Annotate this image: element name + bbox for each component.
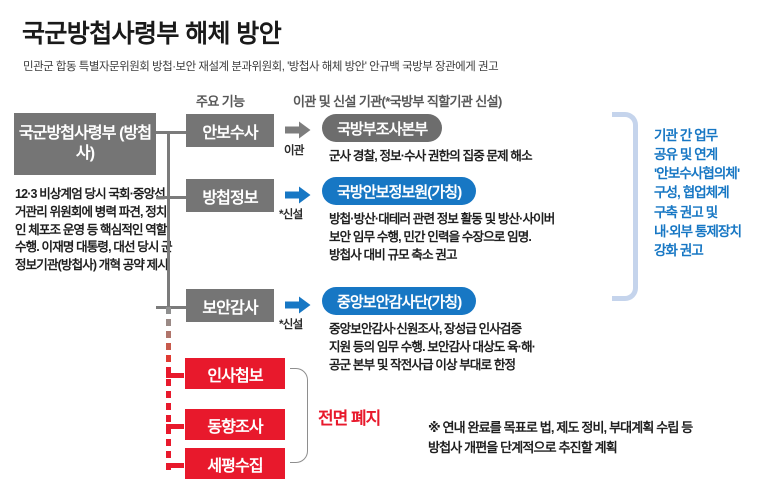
institution-pill-investigation-hq[interactable]: 국방부조사본부 <box>322 114 442 142</box>
institution-description-defense-security-intel: 방첩·방산·대테러 관련 정보 활동 및 방산·사이버 보안 임무 수행, 민간… <box>329 210 554 264</box>
arrow-right-icon-new-agency-1 <box>285 186 311 204</box>
abolished-box-trend-survey[interactable]: 동향조사 <box>185 409 285 440</box>
arrow-note-new-2: *신설 <box>279 316 303 332</box>
institution-description-central-security-audit: 중앙보안감사·신원조사, 장성급 인사검증 지원 등의 임무 수행. 보안감사 … <box>329 320 535 374</box>
coordination-bracket <box>612 112 638 301</box>
source-organization-description: 12·3 비상계엄 당시 국회·중앙선거관리 위원회에 병력 파견, 정치인 체… <box>15 186 175 275</box>
connector-stub-counterintelligence <box>156 196 186 199</box>
abolished-box-personnel-intel[interactable]: 인사첩보 <box>185 358 285 389</box>
function-box-security-audit[interactable]: 보안감사 <box>186 289 274 322</box>
dashed-stub-reputation-collection <box>166 463 184 468</box>
connector-stub-security-audit <box>156 306 186 309</box>
page-subtitle: 민관군 합동 특별자문위원회 방첩·보안 재설계 분과위원회, '방첩사 해체 … <box>23 58 498 74</box>
arrow-right-icon-transfer <box>285 121 311 139</box>
institution-description-investigation-hq: 군사 경찰, 정보·수사 권한의 집중 문제 해소 <box>329 147 532 165</box>
function-box-security-investigation[interactable]: 안보수사 <box>186 114 274 147</box>
abolished-label: 전면 폐지 <box>318 404 380 429</box>
abolished-box-reputation-collection[interactable]: 세평수집 <box>185 448 285 479</box>
page-title: 국군방첩사령부 해체 방안 <box>22 14 281 50</box>
abolished-bracket <box>290 368 308 463</box>
infographic-root: 국군방첩사령부 해체 방안 민관군 합동 특별자문위원회 방첩·보안 재설계 분… <box>0 0 780 483</box>
institution-pill-defense-security-intel[interactable]: 국방안보정보원(가칭) <box>322 177 476 205</box>
footnote: ※ 연내 완료를 목표로 법, 제도 정비, 부대계획 수립 등 방첩사 개편을… <box>428 418 778 457</box>
function-box-counterintelligence[interactable]: 방첩정보 <box>186 179 274 212</box>
dashed-stub-personnel-intel <box>166 373 184 378</box>
connector-stub-security-investigation <box>156 131 186 134</box>
arrow-note-transfer: 이관 <box>284 142 304 158</box>
dashed-stub-trend-survey <box>166 424 184 429</box>
source-organization-box: 국군방첩사령부 (방첩사) <box>14 113 156 175</box>
institution-pill-central-security-audit[interactable]: 중앙보안감사단(가칭) <box>322 287 476 315</box>
arrow-note-new-1: *신설 <box>279 206 303 222</box>
dashed-connector-abolished <box>166 307 171 473</box>
functions-column-header: 주요 기능 <box>196 91 244 110</box>
connector-spine <box>167 131 170 309</box>
coordination-note: 기관 간 업무 공유 및 연계 '안보수사협의체' 구성, 협업체계 구축 권고… <box>654 126 780 260</box>
institutions-column-header: 이관 및 신설 기관(*국방부 직할기관 신설) <box>293 91 502 110</box>
arrow-right-icon-new-agency-2 <box>285 296 311 314</box>
